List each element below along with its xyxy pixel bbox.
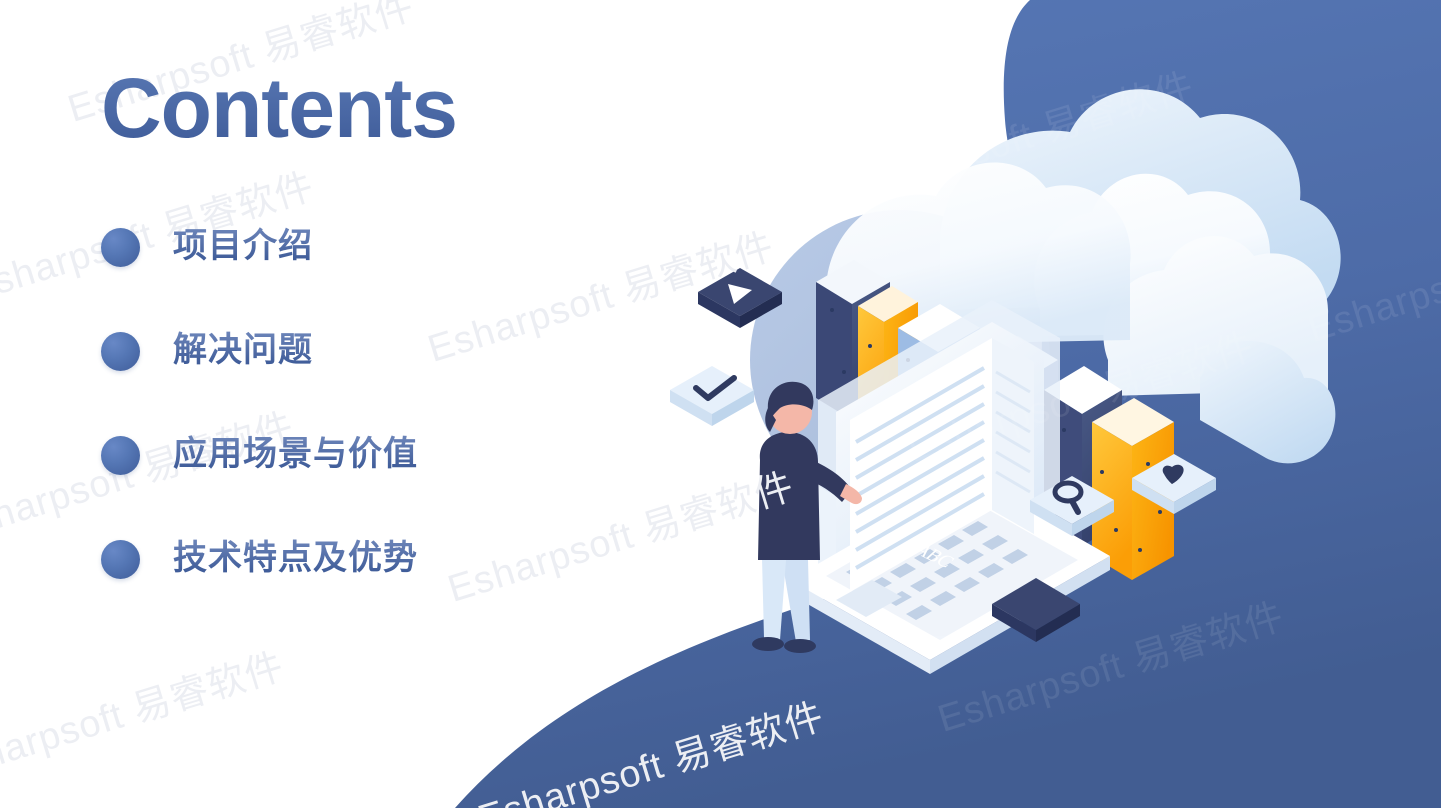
contents-item-3[interactable]: 应用场景与价值 (101, 432, 571, 536)
bullet-dot-icon (101, 540, 140, 579)
contents-item-label: 应用场景与价值 (173, 432, 418, 476)
contents-item-label: 技术特点及优势 (173, 536, 418, 580)
contents-list: 项目介绍 解决问题 应用场景与价值 技术特点及优势 (101, 224, 571, 640)
tile-check (670, 366, 754, 426)
bullet-dot-icon (101, 332, 140, 371)
page-title: Contents (101, 66, 457, 150)
contents-item-2[interactable]: 解决问题 (101, 328, 571, 432)
slide-contents: ABC Esharpsoft 易睿软件 Esharpsoft 易睿软件 Esha… (0, 0, 1441, 808)
contents-item-1[interactable]: 项目介绍 (101, 224, 571, 328)
contents-item-label: 项目介绍 (173, 224, 313, 268)
contents-item-label: 解决问题 (173, 328, 313, 372)
contents-item-4[interactable]: 技术特点及优势 (101, 536, 571, 640)
bullet-dot-icon (101, 436, 140, 475)
bullet-dot-icon (101, 228, 140, 267)
hero-illustration: ABC (640, 60, 1320, 700)
